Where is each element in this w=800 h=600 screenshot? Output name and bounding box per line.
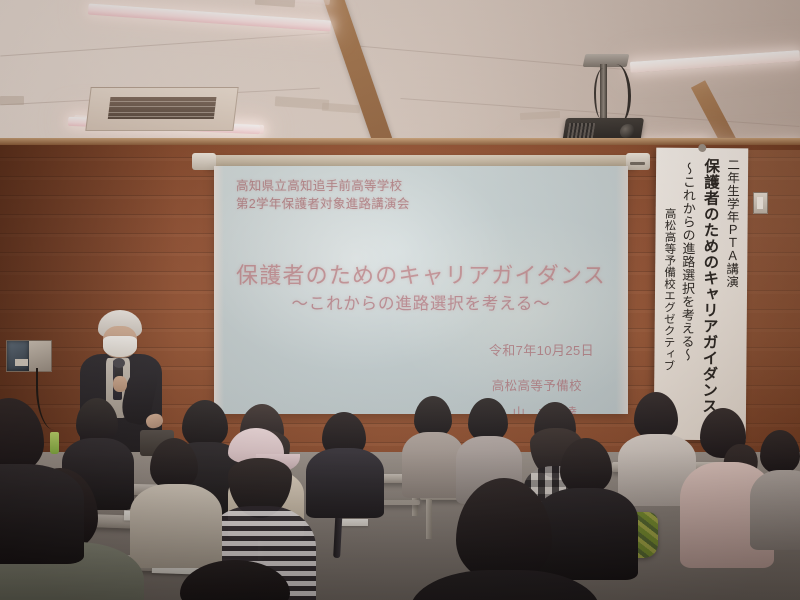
panel-label [15,359,28,366]
handout-paper [340,519,368,526]
slide-header: 高知県立高知追手前高等学校 第2学年保護者対象進路講演会 [236,178,410,214]
torso [0,464,84,564]
banner-column-3: ～これからの進路選択を考える～ [677,162,698,362]
torso [306,448,384,518]
slide-title: 保護者のためのキャリアガイダンス [214,258,628,290]
projector-lens [619,124,635,138]
projector-cable [594,68,610,118]
ceiling-access-panel [0,96,24,105]
banner-pin [698,144,706,152]
banner-column-1: 二年生学年ＰＴＡ講演 [722,158,742,288]
roller-end-cap-left [192,153,216,170]
banner-column-2: 保護者のためのキャリアガイダンス [697,158,721,414]
slide-header-line1: 高知県立高知追手前高等学校 [236,178,410,196]
face-mask-icon [103,336,137,357]
banner-column-4: 高松高等予備校エグゼクティブ [660,208,677,372]
ceiling-projector [556,54,652,146]
speaker-hand-holding-mic [113,376,127,392]
vent-grille [108,97,216,119]
projector-vent [567,123,596,139]
head [760,430,800,474]
lecture-hall-photo: 高知県立高知追手前高等学校 第2学年保護者対象進路講演会 保護者のためのキャリア… [0,0,800,600]
torso [402,432,464,498]
light-jacket [130,484,222,568]
wall-top-trim [0,138,800,145]
slide-organization: 高松高等予備校 [492,375,582,394]
slide-subtitle: ～これからの進路選択を考える～ [214,290,628,314]
panel-socket-left [7,341,29,371]
projection-screen: 高知県立高知追手前高等学校 第2学年保護者対象進路講演会 保護者のためのキャリア… [214,166,628,414]
ceiling-air-conditioner-vent [85,87,238,131]
slide-header-line2: 第2学年保護者対象進路講演会 [236,196,410,214]
torso [750,470,800,550]
roller-end-cap-right [626,153,650,170]
wall-light-switch[interactable] [753,192,768,214]
slide-date: 令和7年10月25日 [489,340,594,359]
green-bottle [50,432,59,454]
panel-cover-right [29,341,51,371]
desk-leg [426,499,432,539]
